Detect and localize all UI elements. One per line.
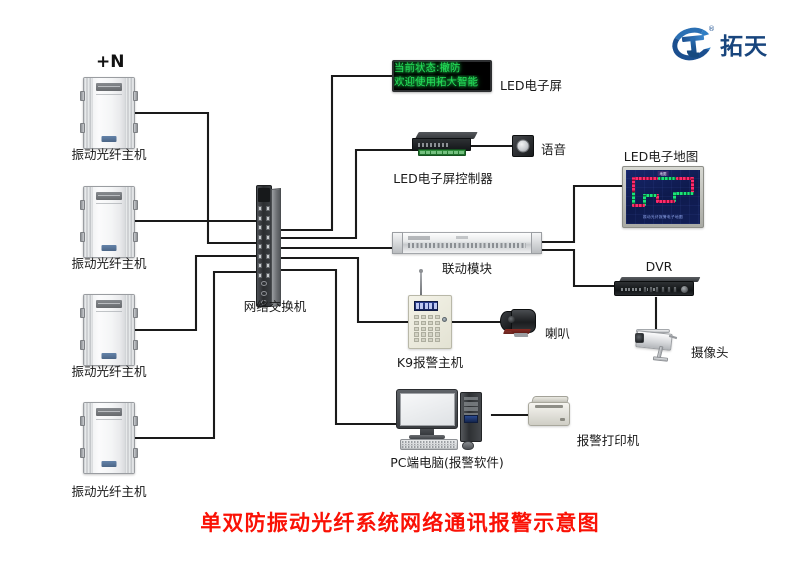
linkage-module-icon[interactable]: [392, 232, 542, 254]
fiber-host-2[interactable]: [83, 186, 135, 258]
wire-switch-ledcontroller: [274, 150, 412, 238]
dvr-icon[interactable]: [614, 277, 698, 299]
led-screen-line2: 欢迎使用拓大智能: [394, 75, 490, 89]
led-controller-icon[interactable]: [412, 132, 474, 156]
led-map-icon[interactable]: 地图 振动光纤报警电子地图: [622, 166, 704, 228]
brand-name: 拓天: [720, 27, 768, 61]
brand-logo: ® 拓天: [672, 26, 768, 62]
led-screen-label: LED电子屏: [500, 75, 562, 94]
voice-label: 语音: [541, 139, 566, 158]
dvr-label: DVR: [646, 259, 673, 274]
fiber-host-1[interactable]: [83, 77, 135, 149]
led-map-caption: 振动光纤报警电子地图: [626, 215, 700, 220]
wire-host1-switch: [135, 113, 258, 243]
horn-label: 喇叭: [545, 323, 570, 342]
voice-speaker-icon[interactable]: [512, 135, 534, 157]
fiber-host-3[interactable]: [83, 294, 135, 366]
network-switch-icon[interactable]: [256, 185, 282, 307]
fiber-host-3-label: 振动光纤主机: [71, 361, 146, 380]
tuotian-oval-t-logo-icon: ®: [672, 26, 714, 62]
led-display-icon[interactable]: 当前状态:撤防 欢迎使用拓大智能: [392, 60, 492, 92]
network-switch-label: 网络交换机: [244, 296, 307, 315]
camera-label: 摄像头: [691, 342, 729, 361]
wire-switch-ledscreen: [274, 76, 392, 230]
fiber-host-2-label: 振动光纤主机: [71, 253, 146, 272]
led-screen-line1: 当前状态:撤防: [394, 61, 490, 75]
printer-icon[interactable]: [528, 396, 570, 426]
wire-linkagemodule-dvr: [542, 250, 614, 286]
registered-mark: ®: [708, 25, 715, 33]
fiber-host-4-label: 振动光纤主机: [71, 481, 146, 500]
desktop-computer-icon[interactable]: [396, 389, 492, 451]
wire-switch-pc: [274, 270, 396, 424]
pc-label: PC端电脑(报警软件): [390, 452, 504, 471]
linkage-module-label: 联动模块: [442, 258, 492, 277]
k9-alarm-host-label: K9报警主机: [397, 352, 463, 371]
wire-linkagemodule-ledmap: [542, 186, 622, 242]
printer-label: 报警打印机: [577, 430, 640, 449]
horn-speaker-icon[interactable]: [500, 308, 540, 334]
alarm-keypad-icon[interactable]: [408, 295, 452, 349]
page-title: 单双防振动光纤系统网络通讯报警示意图: [200, 507, 600, 537]
led-controller-label: LED电子屏控制器: [393, 168, 493, 187]
fiber-host-1-label: 振动光纤主机: [71, 144, 146, 163]
led-map-label: LED电子地图: [624, 146, 699, 165]
cctv-camera-icon[interactable]: [634, 330, 680, 364]
led-map-screen-tag: 地图: [658, 171, 669, 176]
wire-host3-switch: [135, 256, 258, 330]
fiber-host-4[interactable]: [83, 402, 135, 474]
diagram-canvas: ® 拓天 +N 振动光纤主机 振动光纤主机 振动光纤主机 振动光纤主机: [0, 0, 800, 579]
plus-n-annotation: +N: [96, 52, 124, 72]
